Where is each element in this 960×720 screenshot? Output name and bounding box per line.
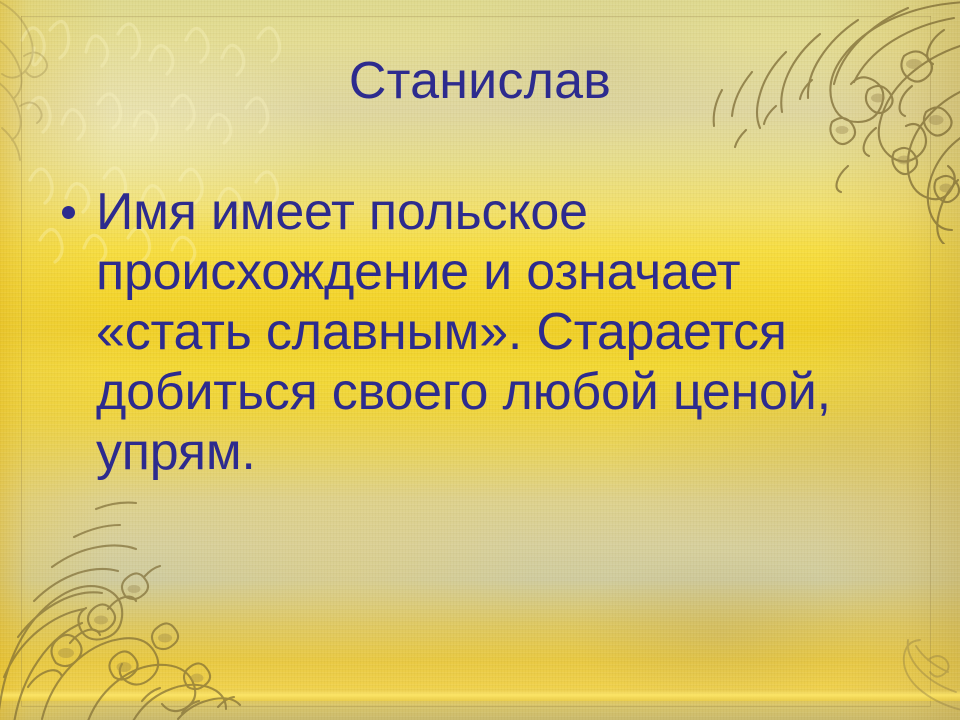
bullet-text: Имя имеет польское происхождение и означ… (96, 182, 892, 482)
slide-body-list: Имя имеет польское происхождение и означ… (52, 182, 892, 482)
presentation-slide: Станислав Имя имеет польское происхожден… (0, 0, 960, 720)
slide-content: Станислав Имя имеет польское происхожден… (0, 0, 960, 720)
slide-title: Станислав (60, 54, 900, 109)
list-item: Имя имеет польское происхождение и означ… (52, 182, 892, 482)
